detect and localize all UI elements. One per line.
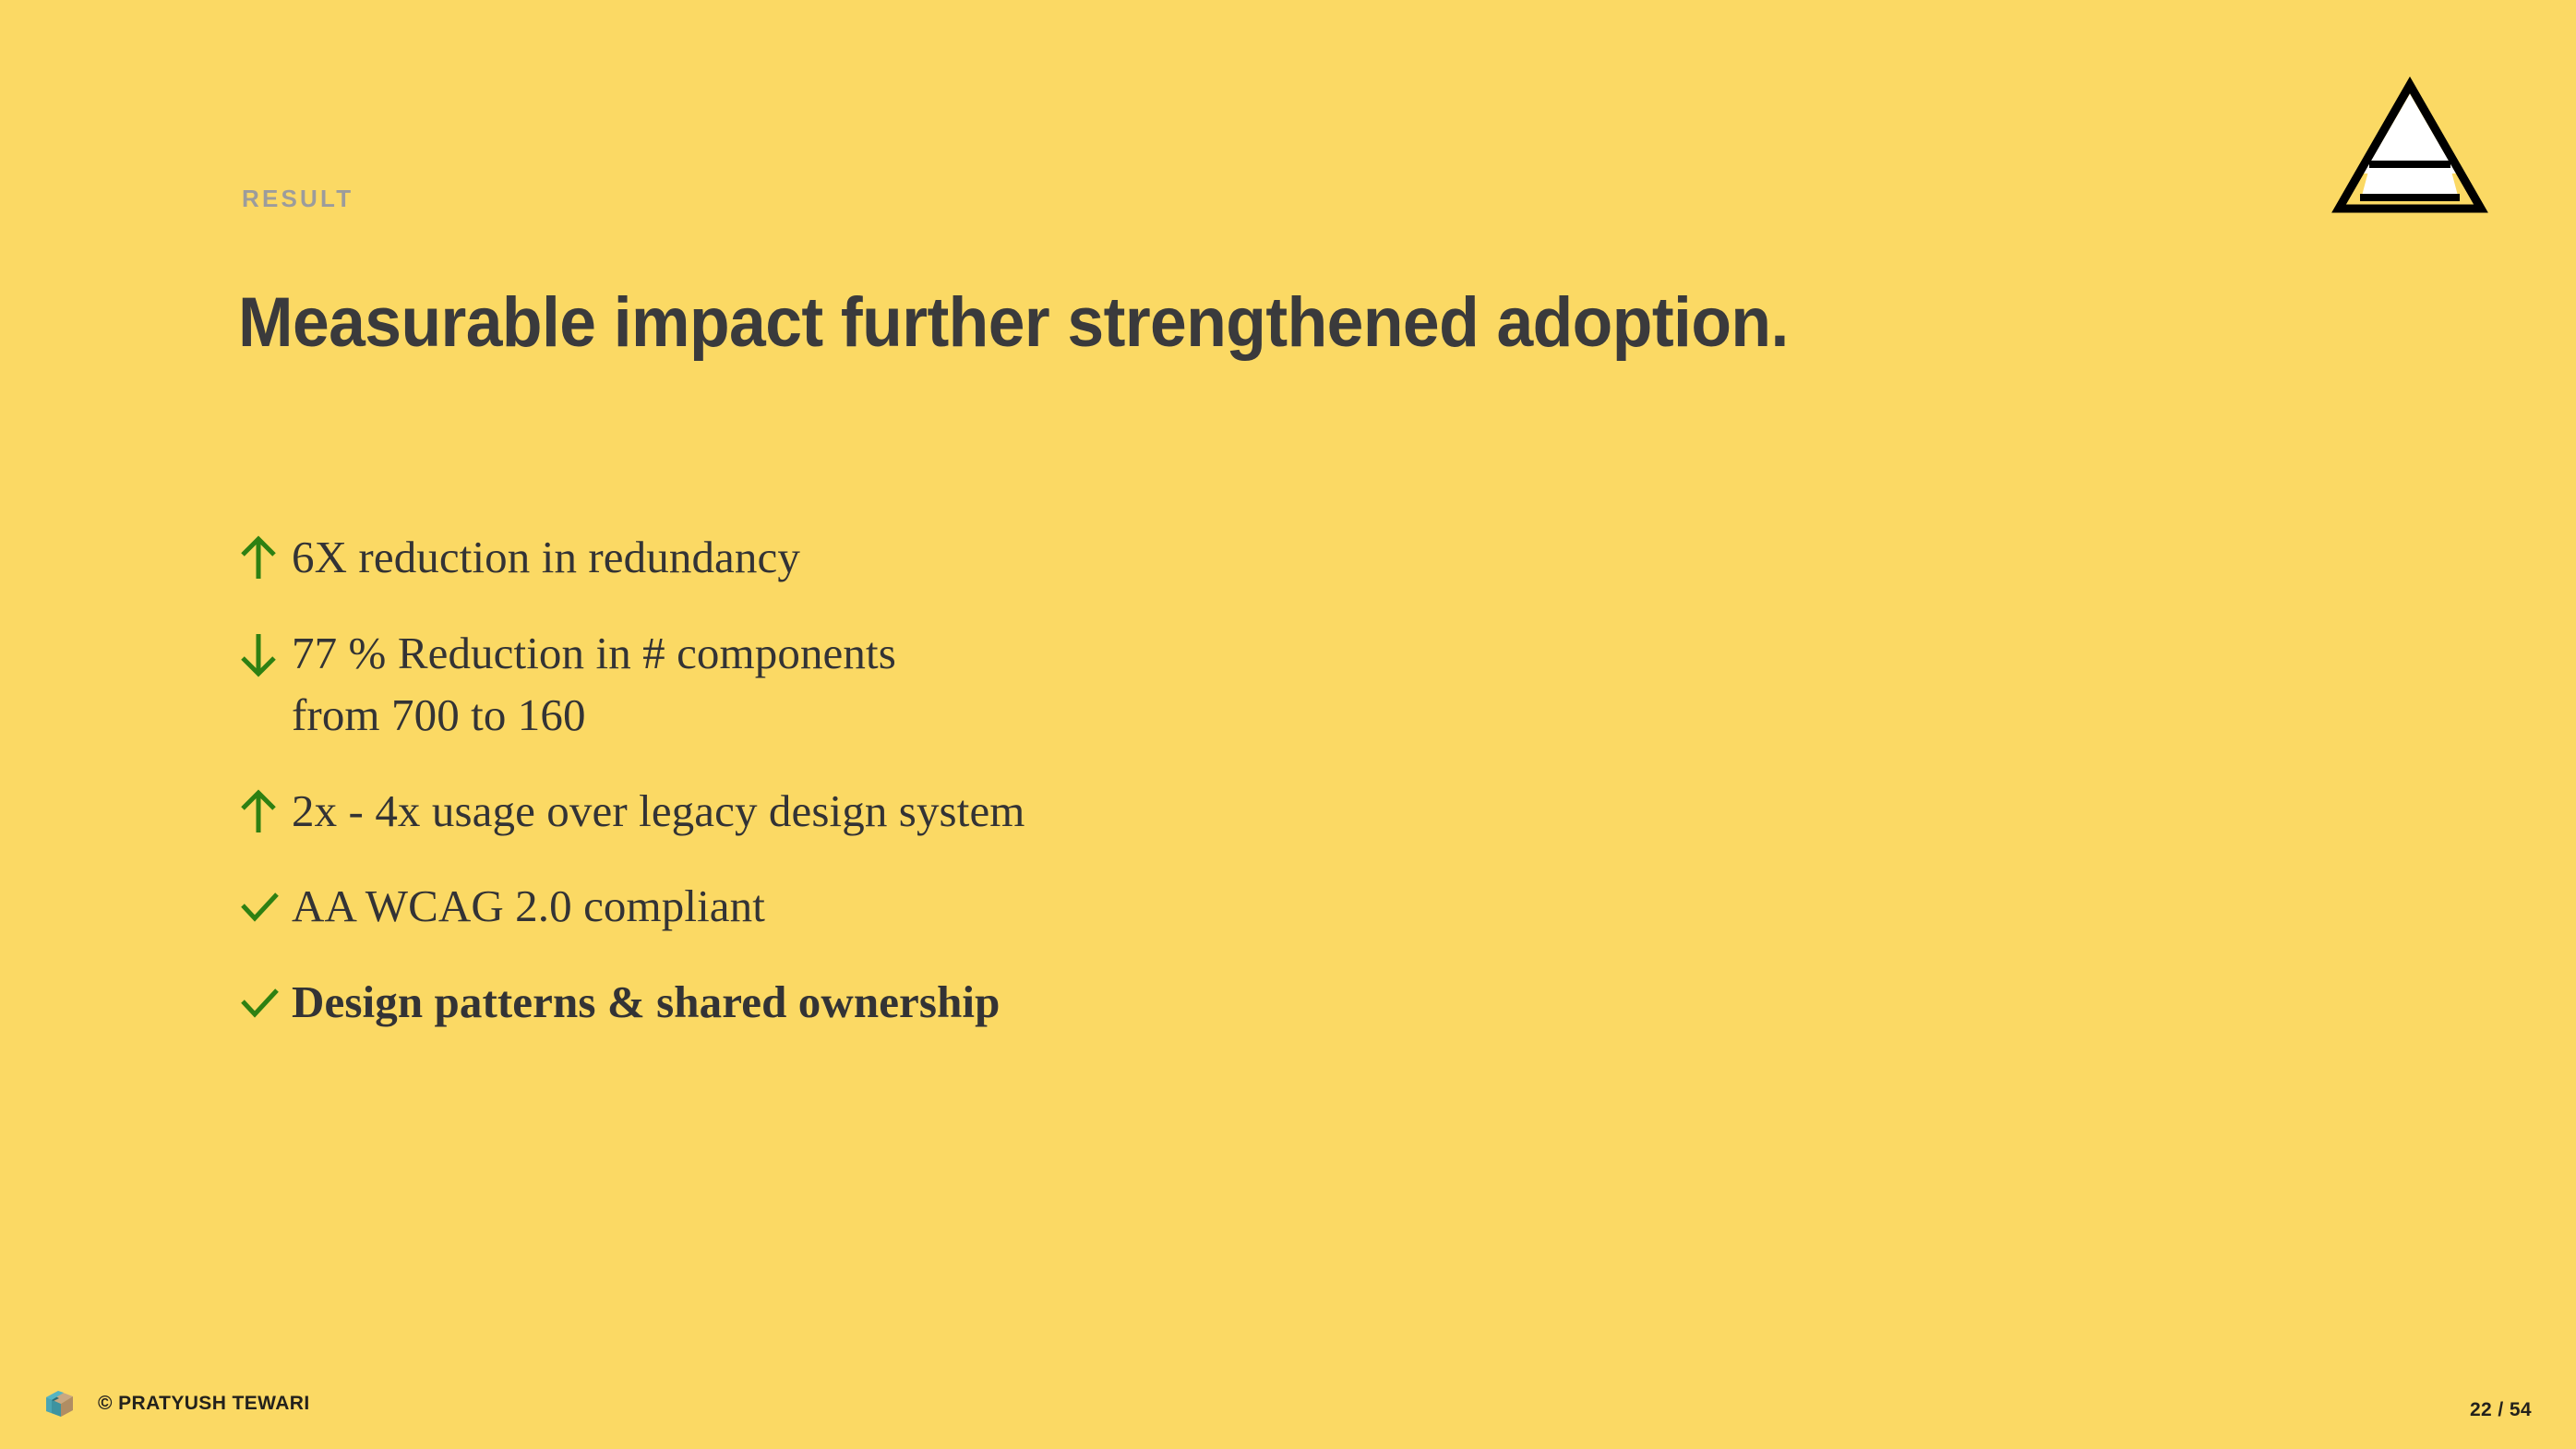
- check-icon: [238, 879, 292, 936]
- page-indicator: 22 / 54: [2470, 1399, 2532, 1421]
- arrow-up-icon: [238, 784, 292, 841]
- list-item-line1: Design patterns & shared ownership: [292, 976, 1000, 1027]
- check-icon: [238, 975, 292, 1032]
- results-list: 6X reduction in redundancy 77 % Reductio…: [238, 526, 1899, 1034]
- arrow-down-icon: [238, 626, 292, 683]
- slide-kicker: RESULT: [242, 186, 353, 210]
- list-item: 2x - 4x usage over legacy design system: [238, 780, 1899, 843]
- copyright-text: © PRATYUSH TEWARI: [98, 1393, 310, 1415]
- list-item-line1: AA WCAG 2.0 compliant: [292, 880, 765, 931]
- page-title: Measurable impact further strengthened a…: [238, 285, 1789, 361]
- list-item-line1: 6X reduction in redundancy: [292, 532, 800, 582]
- list-item: 6X reduction in redundancy: [238, 526, 1899, 589]
- list-item: Design patterns & shared ownership: [238, 971, 1899, 1034]
- pyramid-logo: [2327, 72, 2493, 220]
- list-item-label: 6X reduction in redundancy: [292, 526, 800, 589]
- isometric-box-icon: [39, 1384, 78, 1423]
- list-item-line1: 2x - 4x usage over legacy design system: [292, 785, 1025, 836]
- footer-credit-group: © PRATYUSH TEWARI: [39, 1384, 310, 1423]
- list-item-label: AA WCAG 2.0 compliant: [292, 875, 765, 938]
- list-item-label: 77 % Reduction in # components from 700 …: [292, 622, 896, 747]
- list-item: 77 % Reduction in # components from 700 …: [238, 622, 1899, 747]
- list-item-label: 2x - 4x usage over legacy design system: [292, 780, 1025, 843]
- list-item: AA WCAG 2.0 compliant: [238, 875, 1899, 938]
- arrow-up-icon: [238, 530, 292, 587]
- list-item-line2: from 700 to 160: [292, 684, 896, 747]
- slide-canvas: RESULT Measurable impact further strengt…: [0, 0, 2576, 1449]
- list-item-line1: 77 % Reduction in # components: [292, 628, 896, 678]
- list-item-label: Design patterns & shared ownership: [292, 971, 1000, 1034]
